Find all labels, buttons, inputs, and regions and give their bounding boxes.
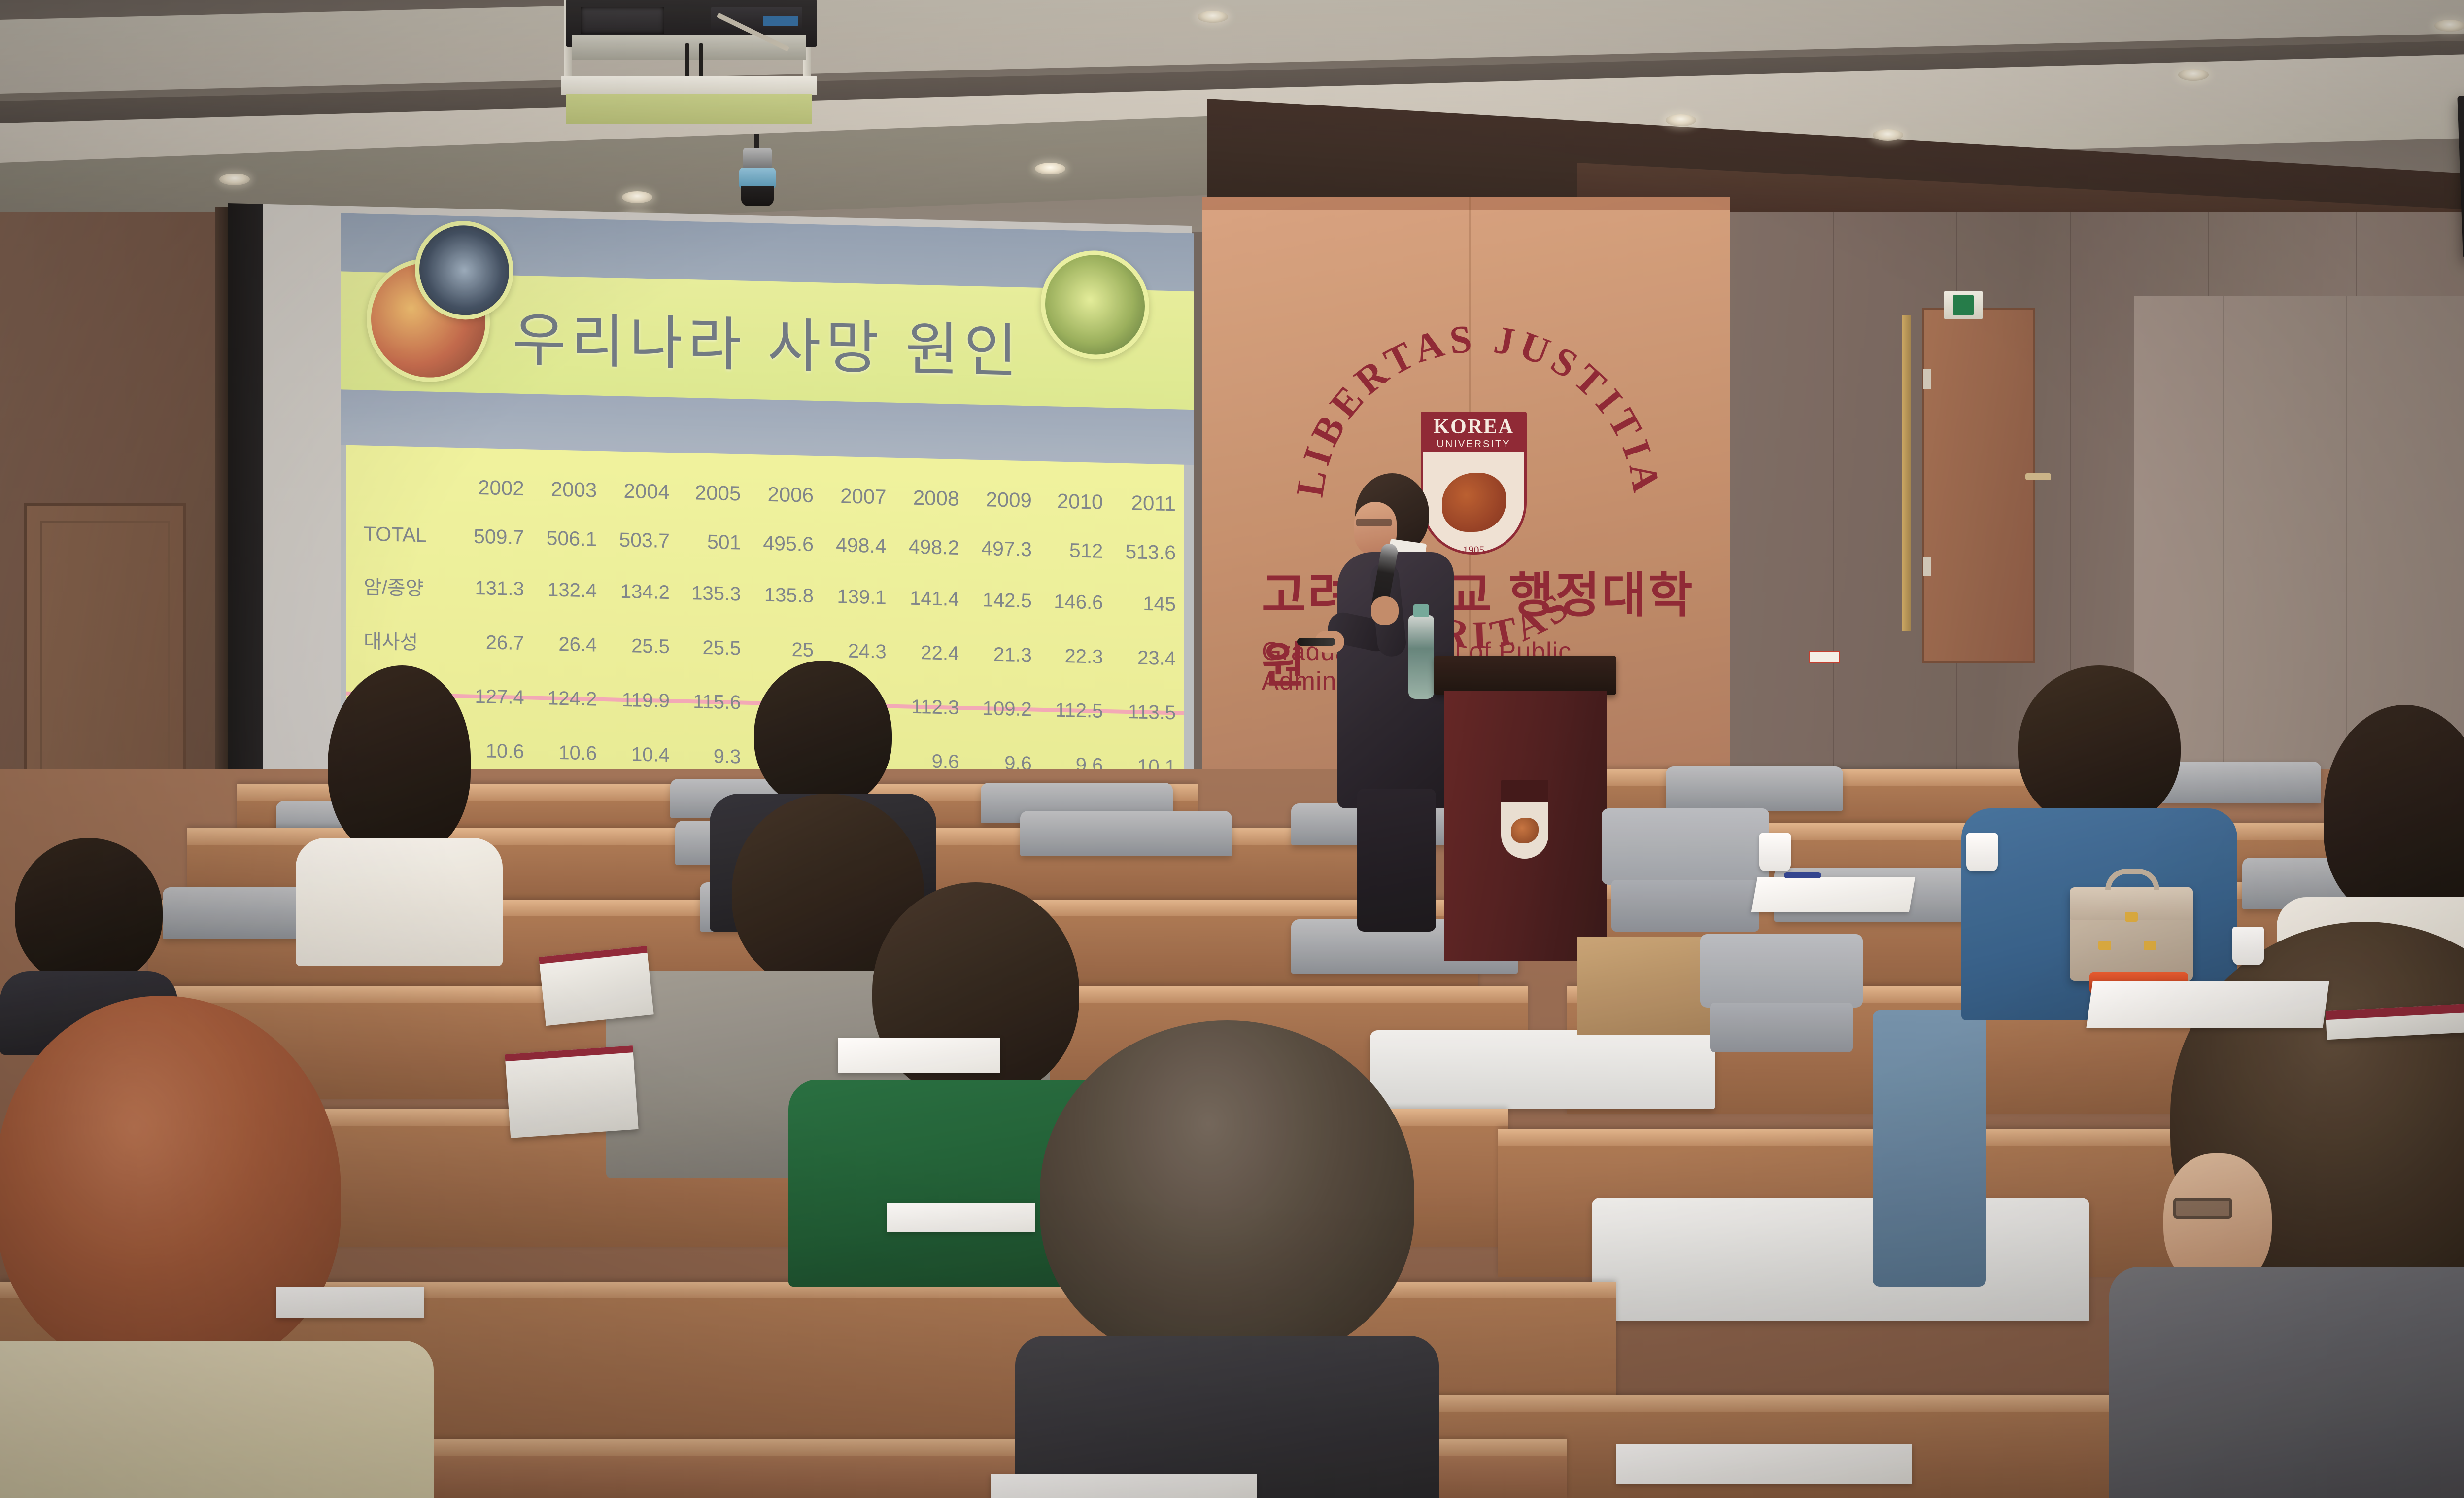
projector-shelf [561,76,817,95]
table-cell: 142.5 [962,572,1035,628]
downlight-icon [2178,69,2209,81]
audience-head [328,665,471,858]
papers[interactable] [887,1203,1035,1232]
presenter-glasses-icon [1356,519,1392,526]
table-cell: 23.4 [1106,630,1179,686]
audience-head [2018,665,2181,828]
chair[interactable] [1700,934,1863,1052]
projector-vga-port [763,16,798,26]
pen[interactable] [1784,872,1821,878]
table-column-header: 2004 [600,466,673,517]
papers[interactable] [2086,981,2329,1028]
audience-head [15,838,163,986]
projector-shelf-face [566,94,812,124]
center-wall-top-trim [1202,197,1730,210]
audience-torso [0,1341,434,1498]
table-cell: 495.6 [744,519,817,569]
papers[interactable] [1616,1444,1912,1484]
podium [1444,656,1607,961]
lecture-hall-photo: LIBERTAS JUSTITIA VERITAS KOREA UNIVERSI… [0,0,2464,1498]
downlight-icon [1035,163,1065,174]
table-corner-cell [361,460,454,511]
fire-extinguisher-sign [1809,651,1840,663]
downlight-icon [622,191,652,203]
audience-torso [296,838,503,966]
table-cell: 506.1 [527,513,600,563]
audience-torso [2109,1267,2464,1498]
table-column-header: 2009 [962,474,1035,525]
audience-member [0,996,434,1498]
podium-body [1444,691,1607,961]
seat[interactable] [1666,766,1843,811]
table-column-header: 2008 [890,473,962,523]
exit-door[interactable] [1922,308,2035,663]
papers[interactable] [276,1287,424,1318]
handbag-clasp-icon [2144,941,2156,950]
table-row-header: TOTAL [361,509,454,560]
table-cell: 25.5 [600,618,673,674]
papers[interactable] [838,1038,1000,1073]
table-column-header: 2002 [454,462,527,513]
podium-top [1434,656,1616,695]
table-cell: 512 [1035,525,1106,576]
table-cell: 501 [673,517,744,567]
table-cell: 26.7 [454,615,527,670]
table-column-header: 2003 [527,464,600,515]
seat[interactable] [1020,811,1232,856]
table-cell: 119.9 [600,672,673,728]
table-row-header: 대사성 [361,612,454,668]
table-row-header: 암/종양 [361,558,454,614]
screen-left-border [228,203,263,856]
audience-head [2324,705,2464,917]
table-column-header: 2005 [673,467,744,518]
table-cell: 497.3 [962,523,1035,574]
exit-sign-icon [1944,291,1983,319]
table-cell: 112.5 [1035,683,1106,738]
paper-cup[interactable] [2232,927,2264,965]
laser-pointer-remote[interactable] [1297,638,1335,646]
table-cell: 141.4 [890,571,962,627]
table-column-header: 2010 [1035,476,1106,527]
table-cell: 22.3 [1035,628,1106,684]
handbag-clasp-icon [2098,941,2111,950]
table-cell: 145 [1106,576,1179,631]
downlight-icon [219,174,250,185]
table-cell: 124.2 [527,670,600,726]
presenter-right-hand [1371,596,1399,625]
table-cell: 509.7 [454,512,527,562]
table-cell: 139.1 [817,569,890,625]
table-cell: 113.5 [1106,684,1179,740]
seat[interactable] [1592,1198,2089,1321]
downlight-icon [1666,114,1696,126]
water-bottle[interactable] [1408,615,1434,699]
presenter-trousers [1357,789,1436,932]
papers[interactable] [991,1474,1257,1498]
handbag-clasp-icon [2125,912,2138,922]
audience-head [754,661,892,808]
chair[interactable] [1602,808,1769,932]
table-column-header: 2011 [1106,478,1179,528]
projector-vent [581,7,664,34]
table-cell: 109.2 [962,681,1035,736]
table-column-header: 2006 [744,469,817,520]
paper-cup[interactable] [1966,833,1998,871]
handbag[interactable] [2070,887,2193,981]
binder[interactable] [505,1045,638,1138]
binder[interactable] [539,946,653,1026]
camera-lens-icon [741,186,774,206]
door-handle-icon[interactable] [2025,473,2051,480]
table-cell: 513.6 [1106,527,1179,577]
audience-member [1015,1020,1439,1498]
table-cell: 498.4 [817,520,890,570]
downlight-icon [1198,11,1228,23]
downlight-icon [2434,20,2464,32]
chair[interactable] [1873,1010,1986,1287]
camera-housing [743,148,772,170]
seal-name-line2: UNIVERSITY [1437,439,1510,450]
seal-name-line1: KOREA [1433,415,1514,439]
table-column-header: 2007 [817,471,890,522]
paper-cup[interactable] [1759,833,1791,871]
table-cell: 498.2 [890,522,962,572]
table-cell: 26.4 [527,616,600,672]
audience-head [1040,1020,1414,1365]
table-cell: 134.2 [600,564,673,620]
table-cell: 503.7 [600,515,673,565]
table-cell: 21.3 [962,627,1035,682]
downlight-icon [1873,129,1903,141]
table-cell: 131.3 [454,560,527,616]
table-cell: 135.8 [744,567,817,623]
podium-crest-icon [1501,780,1548,859]
table-cell: 135.3 [673,565,744,621]
exit-running-man-icon [1953,295,1974,315]
table-cell: 132.4 [527,562,600,618]
papers[interactable] [1751,877,1915,912]
audience-member [296,665,503,941]
wall-trim-strip [1902,315,1911,631]
glasses-icon [2173,1198,2232,1219]
table-cell: 146.6 [1035,574,1106,630]
